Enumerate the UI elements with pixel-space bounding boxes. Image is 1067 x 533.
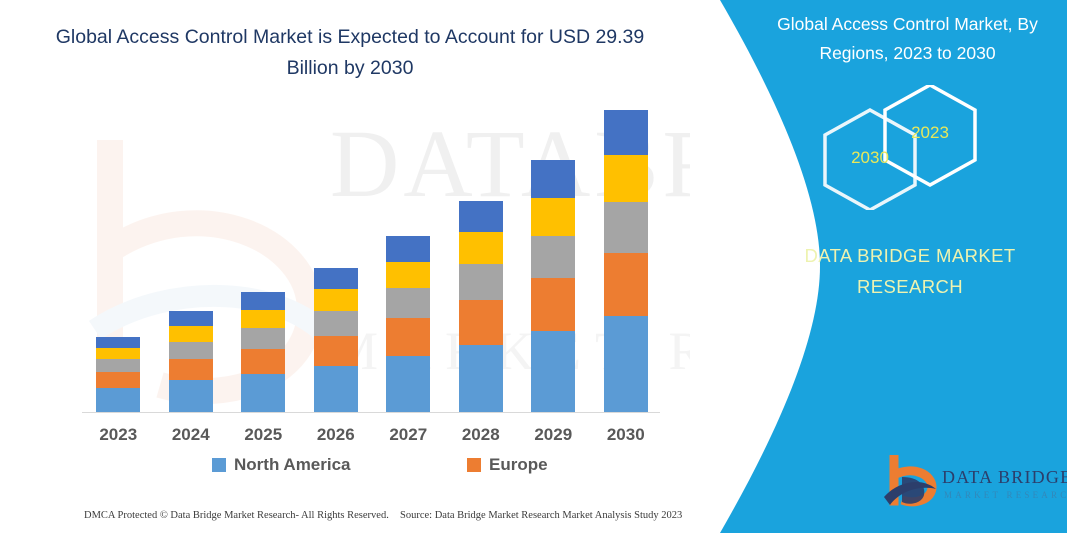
bar-segment: [96, 348, 140, 359]
x-axis-label-2029: 2029: [518, 425, 588, 445]
bar-2029: [531, 160, 575, 412]
data-bridge-logo: DATA BRIDGE MARKET RESEARCH: [880, 455, 1060, 517]
bar-2023: [96, 337, 140, 412]
bar-2025: [241, 292, 285, 412]
bar-segment: [96, 388, 140, 412]
bar-segment: [386, 356, 430, 412]
logo-mark-icon: [880, 455, 940, 513]
bar-segment: [459, 201, 503, 232]
legend-item: North America: [212, 455, 351, 475]
legend-swatch: [212, 458, 226, 472]
x-axis-labels: 20232024202520262027202820292030: [82, 425, 662, 451]
bar-segment: [531, 198, 575, 236]
bar-segment: [169, 326, 213, 341]
bar-segment: [314, 289, 358, 311]
footer-source: Source: Data Bridge Market Research Mark…: [400, 510, 682, 521]
bar-segment: [314, 268, 358, 289]
bar-segment: [604, 253, 648, 316]
bar-segment: [604, 316, 648, 412]
chart-plot-area: [82, 110, 662, 412]
bar-segment: [531, 278, 575, 331]
bar-segment: [96, 359, 140, 372]
x-axis-line: [82, 412, 660, 413]
legend-label: North America: [234, 455, 351, 475]
brand-text: DATA BRIDGE MARKET RESEARCH: [765, 240, 1055, 302]
bar-segment: [169, 380, 213, 412]
bar-segment: [459, 264, 503, 300]
legend-item: Europe: [467, 455, 548, 475]
logo-title: DATA BRIDGE: [942, 467, 1067, 488]
bar-segment: [241, 374, 285, 412]
bar-segment: [241, 349, 285, 374]
bar-chart: [82, 110, 662, 415]
bar-2028: [459, 201, 503, 412]
legend-label: Europe: [489, 455, 548, 475]
legend-swatch: [467, 458, 481, 472]
bar-segment: [386, 318, 430, 355]
bar-segment: [314, 311, 358, 335]
bar-segment: [169, 359, 213, 380]
x-axis-label-2026: 2026: [301, 425, 371, 445]
bar-segment: [169, 342, 213, 359]
hexagon-2023-label: 2023: [895, 123, 965, 143]
bar-2030: [604, 110, 648, 412]
x-axis-label-2028: 2028: [446, 425, 516, 445]
footer: DMCA Protected © Data Bridge Market Rese…: [0, 505, 690, 529]
bar-segment: [604, 155, 648, 201]
hexagon-outlines: [770, 85, 1060, 210]
bar-segment: [241, 310, 285, 328]
bar-segment: [169, 311, 213, 326]
hexagon-badges: 2030 2023: [770, 85, 1060, 210]
brand-line1: DATA BRIDGE MARKET: [765, 240, 1055, 271]
right-panel: Global Access Control Market, By Regions…: [690, 0, 1067, 533]
bar-segment: [386, 236, 430, 262]
bar-segment: [241, 328, 285, 348]
x-axis-label-2023: 2023: [83, 425, 153, 445]
bar-2027: [386, 236, 430, 412]
bar-segment: [604, 110, 648, 155]
bar-segment: [459, 300, 503, 344]
x-axis-label-2027: 2027: [373, 425, 443, 445]
chart-legend: North AmericaEurope: [82, 455, 662, 481]
hexagon-2030-label: 2030: [835, 148, 905, 168]
x-axis-label-2030: 2030: [591, 425, 661, 445]
bar-segment: [314, 336, 358, 366]
x-axis-label-2025: 2025: [228, 425, 298, 445]
bar-segment: [531, 160, 575, 197]
infographic-root: DATABRIDGE MARKET RESEARCH Global Access…: [0, 0, 1067, 533]
bar-segment: [314, 366, 358, 412]
bar-segment: [531, 331, 575, 412]
bar-segment: [459, 232, 503, 264]
bar-segment: [604, 202, 648, 253]
page-title: Global Access Control Market is Expected…: [50, 22, 650, 84]
bar-segment: [531, 236, 575, 278]
logo-subtitle: MARKET RESEARCH: [944, 490, 1067, 500]
footer-copyright: DMCA Protected © Data Bridge Market Rese…: [84, 510, 389, 521]
bar-2024: [169, 311, 213, 412]
bar-segment: [459, 345, 503, 412]
x-axis-label-2024: 2024: [156, 425, 226, 445]
bar-2026: [314, 268, 358, 412]
brand-line2: RESEARCH: [765, 271, 1055, 302]
bar-segment: [241, 292, 285, 310]
bar-segment: [96, 337, 140, 348]
bar-segment: [386, 262, 430, 288]
bar-segment: [386, 288, 430, 318]
bar-segment: [96, 372, 140, 388]
panel-title: Global Access Control Market, By Regions…: [765, 10, 1050, 68]
